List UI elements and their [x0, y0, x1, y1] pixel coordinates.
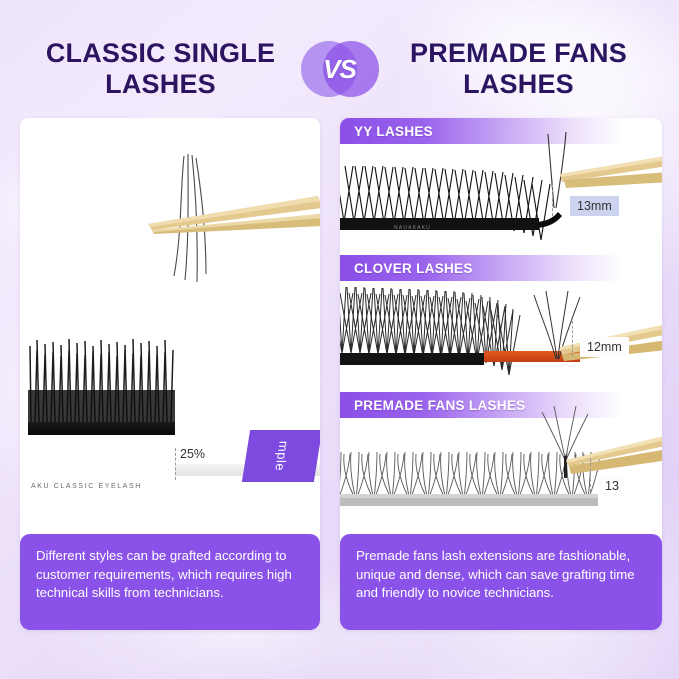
section-premade-fans: PREMADE FANS LASHES [340, 392, 662, 530]
svg-text:NAUAKAKU: NAUAKAKU [394, 225, 431, 231]
vs-label: VS [323, 54, 356, 85]
clover-tweezers-with-fan [526, 289, 662, 373]
right-title: PREMADE FANS LASHES [379, 38, 659, 100]
section-clover-lashes: CLOVER LASHES [340, 255, 662, 392]
yy-guide-line [552, 180, 553, 216]
left-caption: Different styles can be grafted accordin… [20, 534, 320, 630]
yy-measurement: 13mm [570, 196, 619, 216]
left-title: CLASSIC SINGLE LASHES [21, 38, 301, 100]
clover-guide-line [572, 321, 573, 357]
premade-measurement: 13 [598, 476, 626, 496]
premade-guide-line [590, 458, 591, 492]
section-yy-lashes: YY LASHES [340, 118, 662, 255]
right-caption: Premade fans lash extensions are fashion… [340, 534, 662, 630]
header: CLASSIC SINGLE LASHES VS PREMADE FANS LA… [0, 26, 679, 112]
tweezers-with-single-lash-icon [140, 148, 320, 303]
vs-badge: VS [301, 33, 379, 105]
clover-measurement: 12mm [580, 337, 629, 357]
